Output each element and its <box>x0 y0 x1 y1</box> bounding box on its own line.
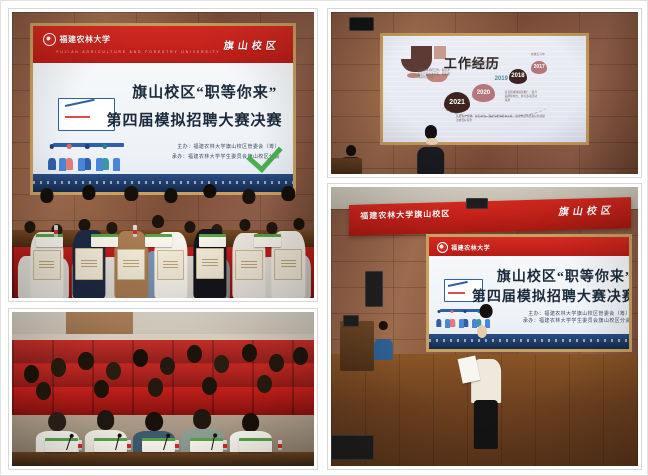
speaker-face <box>477 325 487 338</box>
water-bottle <box>175 440 179 450</box>
timeline-pin-2018: 2018 <box>509 69 527 84</box>
university-logo: 福建农林大学 <box>43 33 110 46</box>
name-card <box>145 234 172 247</box>
event-slide-screen: 福建农林大学 旗山 <box>426 234 632 351</box>
decorative-shape <box>411 46 431 60</box>
podium-monitor <box>343 315 358 326</box>
slide-title-line1: 旗山校区“职等你来” <box>497 266 632 286</box>
timeline-note-2020: 拓展客户资源，负责对接、跟进与维护客户关系，完成年度销售指标并超额达成目标任务 <box>456 115 547 123</box>
award-winner <box>115 186 148 298</box>
university-logo-icon <box>43 33 56 46</box>
slide-title-line1: 旗山校区“职等你来” <box>132 81 277 102</box>
judge-name-card <box>45 438 78 451</box>
timeline-pin-2020: 2020 <box>472 84 494 102</box>
photo-award-ceremony: 福建农林大学 FUJIAN AGRICULTURE AND FORESTRY U… <box>9 9 317 301</box>
timeline-pin-2021: 2021 <box>444 92 470 113</box>
slide-header-bar: 福建农林大学 <box>429 237 629 256</box>
judge-name-card <box>94 438 127 451</box>
slide-title-line2: 第四届模拟招聘大赛决赛 <box>472 286 632 306</box>
slide-co-organizer-line: 承办：福建农林大学学生委员会旗山校区分会 <box>523 317 631 324</box>
photo-work-experience-slide: 工作经历 负责市场调研工作，提出并落实产品改进方案，任职期间获得了认可 参与团队… <box>328 9 641 177</box>
university-logo-text: 福建农林大学 <box>59 34 110 45</box>
judge-name-card <box>190 438 223 451</box>
certificate <box>274 249 302 280</box>
water-bottle <box>278 440 282 450</box>
name-card <box>254 234 281 247</box>
timeline-note-2021: 负责市场调研工作，提出并落实产品改进方案，任职期间获得了认可 <box>418 69 450 80</box>
slide-body: 旗山校区“职等你来” 第四届模拟招聘大赛决赛 主办：福建农林大学旗山校区管委会（… <box>429 256 629 348</box>
control-desk <box>331 158 362 174</box>
slide-organizer-line: 主办：福建农林大学旗山校区管委会（筹） <box>528 310 631 317</box>
judge-name-card <box>239 438 272 451</box>
banner-main-text: 福建农林大学旗山校区 <box>361 208 451 222</box>
slide-footer-stripe <box>429 334 629 349</box>
timeline-note-2018: 负责新媒体运营推广，提升品牌影响力，参与多项活动策划 <box>505 91 537 102</box>
water-bottle <box>133 225 137 237</box>
slide-header-bar: 福建农林大学 FUJIAN AGRICULTURE AND FORESTRY U… <box>33 26 293 62</box>
water-bottle <box>54 225 58 237</box>
water-bottle <box>78 440 82 450</box>
university-logo-text: 福建农林大学 <box>451 243 490 252</box>
slide-title-line2: 第四届模拟招聘大赛决赛 <box>106 109 282 130</box>
name-card <box>91 234 118 247</box>
timeline-note-2017: 在校实习中 <box>531 53 559 57</box>
water-bottle <box>223 440 227 450</box>
banner-script-text: 旗山校区 <box>558 201 617 218</box>
water-bottle <box>127 440 131 450</box>
stage-equipment <box>331 435 374 460</box>
certificate <box>157 250 185 281</box>
seated-host <box>374 321 392 360</box>
presenter <box>417 125 445 174</box>
podium <box>340 321 374 371</box>
award-winners-group <box>12 149 314 298</box>
presenter-face <box>426 138 438 144</box>
certificate <box>75 248 103 279</box>
timeline-pin-2019: 2019 <box>495 76 508 82</box>
certificate <box>117 249 145 280</box>
university-logo-icon <box>437 242 448 253</box>
ceiling-projector <box>466 198 487 209</box>
judges-table <box>12 452 314 466</box>
university-logo-subtext: FUJIAN AGRICULTURE AND FORESTRY UNIVERSI… <box>56 50 220 54</box>
judge-name-card <box>142 438 175 451</box>
certificate <box>196 248 224 280</box>
timeline-note-2019: 参与团队项目策划与执行，协助完成阶段性目标任务 <box>466 61 498 69</box>
work-experience-slide: 工作经历 负责市场调研工作，提出并落实产品改进方案，任职期间获得了认可 参与团队… <box>380 33 589 145</box>
photo-judges-and-audience <box>9 309 317 469</box>
certificate <box>235 250 263 280</box>
ceiling-projector <box>349 17 374 32</box>
judges-panel <box>12 401 314 466</box>
campus-script-text: 旗山校区 <box>223 37 281 52</box>
photo-speaker-on-stage: 福建农林大学旗山校区 旗山校区 福建农林大学 <box>328 184 641 469</box>
certificate <box>33 250 61 281</box>
wall-speaker <box>365 271 383 307</box>
photo-collage: 福建农林大学 FUJIAN AGRICULTURE AND FORESTRY U… <box>0 0 648 476</box>
timeline-pin-2017: 2017 <box>531 61 547 74</box>
name-card <box>36 234 63 247</box>
name-card <box>199 234 226 247</box>
